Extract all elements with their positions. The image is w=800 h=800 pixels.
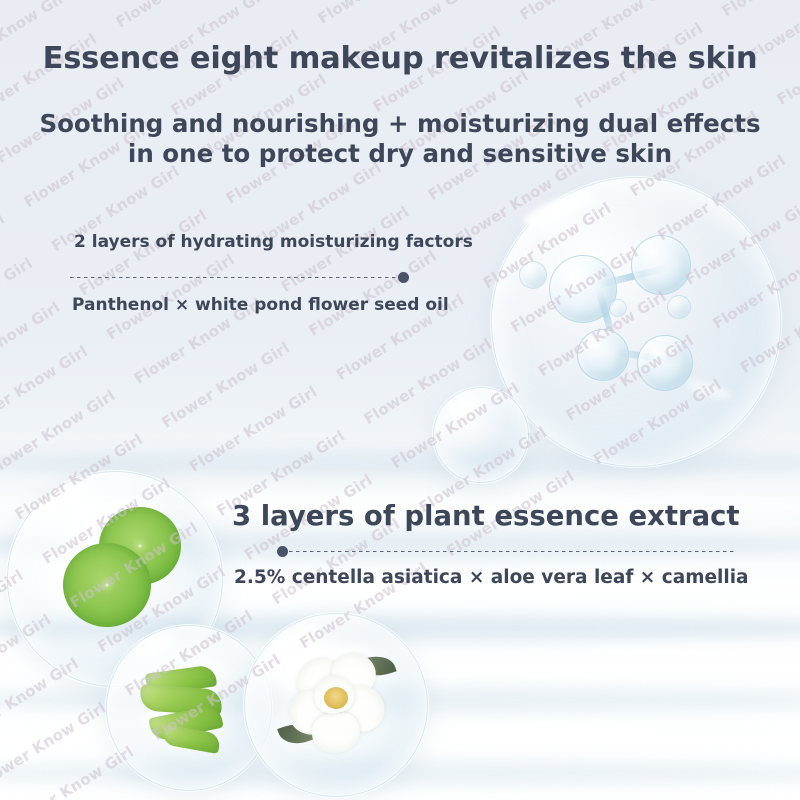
watermark-text: Flower Know Girl — [305, 247, 439, 340]
watermark-text: Flower Know Girl — [113, 0, 247, 31]
watermark-text: Flower Know Girl — [682, 195, 800, 288]
feature-2-ingredients: 2.5% centella asiatica × aloe vera leaf … — [234, 567, 749, 588]
watermark-text: Flower Know Girl — [122, 607, 256, 700]
feature-1-title: 2 layers of hydrating moisturizing facto… — [74, 232, 473, 252]
watermark-text: Flower Know Girl — [0, 566, 27, 659]
watermark-text: Flower Know Girl — [563, 331, 697, 424]
watermark-text: Flower Know Girl — [0, 210, 8, 303]
watermark-text: Flower Know Girl — [94, 563, 228, 656]
watermark-text: Flower Know Girl — [590, 375, 724, 468]
watermark-text: Flower Know Girl — [0, 654, 82, 747]
feature-1-divider-dot — [398, 272, 409, 283]
watermark-text: Flower Know Girl — [709, 239, 800, 332]
watermark-text: Flower Know Girl — [12, 430, 146, 523]
watermark-text: Flower Know Girl — [507, 243, 641, 336]
watermark-text: Flower Know Girl — [67, 518, 201, 611]
watermark-text: Flower Know Girl — [361, 335, 495, 428]
silk-backdrop — [0, 400, 800, 800]
watermark-text: Flower Know Girl — [480, 199, 614, 292]
watermark-text: Flower Know Girl — [0, 342, 91, 435]
watermark-text: Flower Know Girl — [76, 206, 210, 299]
product-poster: Flower Know Girl Flower Know Girl Flower… — [0, 0, 800, 800]
watermark-text: Flower Know Girl — [535, 287, 669, 380]
water-droplet-bubble — [432, 386, 530, 484]
water-ripples — [0, 410, 800, 800]
watermark-text: Flower Know Girl — [0, 610, 54, 703]
watermark-text: Flower Know Girl — [186, 383, 320, 476]
watermark-text: Flower Know Girl — [0, 698, 109, 791]
feature-1-divider — [70, 277, 403, 278]
watermark-text: Flower Know Girl — [315, 0, 449, 28]
watermark-text: Flower Know Girl — [0, 254, 36, 347]
poster-subheadline-line1: Soothing and nourishing + moisturizing d… — [0, 110, 800, 138]
poster-subheadline-line2: in one to protect dry and sensitive skin — [0, 140, 800, 168]
molecule-bubble — [490, 176, 782, 468]
centella-asiatica-bubble — [6, 470, 224, 688]
watermark-text: Flower Know Girl — [719, 0, 800, 20]
watermark-text: Flower Know Girl — [388, 379, 522, 472]
feature-1-ingredients: Panthenol × white pond flower seed oil — [72, 295, 449, 315]
feature-2-divider — [282, 551, 735, 552]
watermark-text: Flower Know Girl — [149, 651, 283, 744]
feature-2-divider-dot — [277, 546, 288, 557]
watermark-text: Flower Know Girl — [39, 474, 173, 567]
feature-2-title: 3 layers of plant essence extract — [232, 500, 740, 532]
watermark-text: Flower Know Girl — [0, 386, 118, 479]
watermark-text: Flower Know Girl — [737, 284, 800, 377]
poster-headline: Essence eight makeup revitalizes the ski… — [0, 41, 800, 76]
watermark-text: Flower Know Girl — [2, 743, 136, 800]
watermark-text: Flower Know Girl — [517, 0, 651, 24]
watermark-text: Flower Know Girl — [159, 338, 293, 431]
watermark-text: Flower Know Girl — [0, 298, 63, 391]
aloe-vera-bubble — [105, 624, 273, 792]
camellia-flower-bubble — [243, 612, 429, 798]
